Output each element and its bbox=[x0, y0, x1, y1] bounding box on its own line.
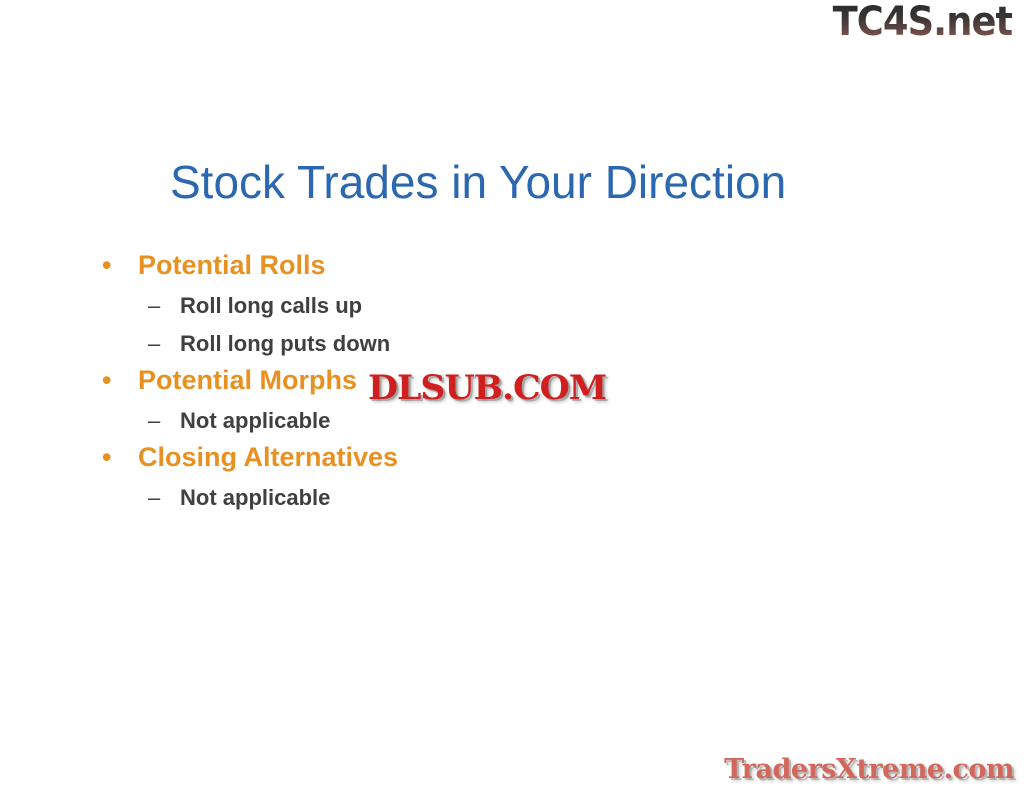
bullet-text: Closing Alternatives bbox=[138, 442, 398, 472]
dlsub-watermark: DLSUB.COM bbox=[368, 371, 606, 405]
bullet-level1: •Closing Alternatives bbox=[96, 444, 856, 471]
slide-title: Stock Trades in Your Direction bbox=[170, 155, 786, 209]
bullet-text: Roll long calls up bbox=[180, 293, 362, 318]
bullet-level2: –Not applicable bbox=[96, 410, 856, 432]
bullet-dot-icon: • bbox=[102, 367, 111, 394]
bullet-dash-icon: – bbox=[148, 295, 160, 317]
bullet-dot-icon: • bbox=[102, 444, 111, 471]
bullet-dot-icon: • bbox=[102, 252, 111, 279]
bullet-level1: •Potential Rolls bbox=[96, 252, 856, 279]
bullet-dash-icon: – bbox=[148, 410, 160, 432]
bullet-text: Not applicable bbox=[180, 408, 330, 433]
bullet-level2: –Roll long puts down bbox=[96, 333, 856, 355]
bullet-level2: –Roll long calls up bbox=[96, 295, 856, 317]
bullet-text: Potential Rolls bbox=[138, 250, 326, 280]
tradersxtreme-watermark: TradersXtreme.com bbox=[724, 756, 1014, 783]
bullet-dash-icon: – bbox=[148, 333, 160, 355]
bullet-text: Potential Morphs bbox=[138, 365, 357, 395]
bullet-dash-icon: – bbox=[148, 487, 160, 509]
bullet-text: Roll long puts down bbox=[180, 331, 390, 356]
bullet-text: Not applicable bbox=[180, 485, 330, 510]
presentation-slide: TC4S.net Stock Trades in Your Direction … bbox=[0, 0, 1024, 791]
bullet-level2: –Not applicable bbox=[96, 487, 856, 509]
brand-logo: TC4S.net bbox=[832, 2, 1012, 42]
